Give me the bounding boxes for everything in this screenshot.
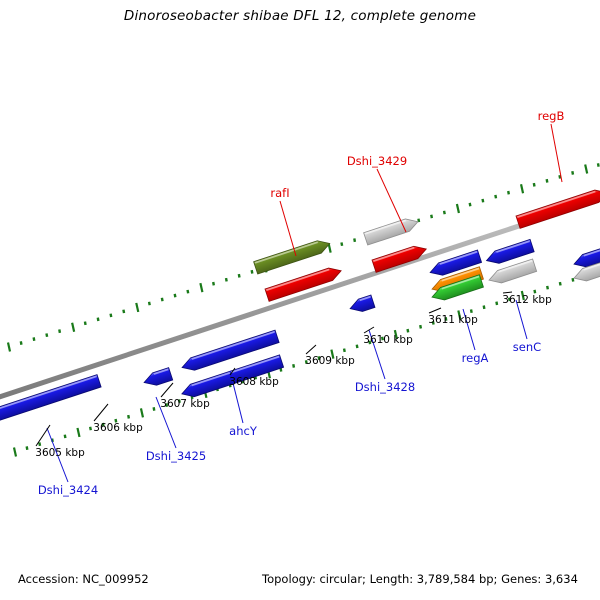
gene-label-senc[interactable]: senC bbox=[513, 340, 541, 354]
scale-tick-minor bbox=[344, 349, 345, 352]
scale-tick-major bbox=[585, 164, 587, 173]
tick-label-leader bbox=[36, 425, 50, 446]
scale-tick-minor bbox=[46, 333, 47, 336]
scale-tick-minor bbox=[431, 215, 432, 218]
gene-arrow-f-senC-gray[interactable] bbox=[487, 259, 537, 286]
scale-tick-minor bbox=[598, 163, 599, 166]
scale-tick-minor bbox=[128, 415, 129, 418]
genome-stats-text: Topology: circular; Length: 3,789,584 bp… bbox=[262, 572, 578, 586]
gene-feature[interactable] bbox=[516, 187, 600, 229]
scale-tick-major bbox=[72, 323, 74, 332]
tick-label: 3611 kbp bbox=[428, 314, 477, 326]
scale-tick-minor bbox=[111, 314, 112, 317]
gene-arrow-f-3429-gray[interactable] bbox=[364, 216, 420, 246]
tick-label: 3610 kbp bbox=[363, 334, 412, 346]
scale-tick-minor bbox=[213, 282, 214, 285]
gene-arrow-f-dshi3428[interactable] bbox=[348, 295, 375, 315]
gene-feature[interactable] bbox=[487, 259, 537, 286]
scale-tick-minor bbox=[341, 242, 342, 245]
scale-tick-minor bbox=[471, 309, 472, 312]
gene-feature[interactable] bbox=[348, 295, 375, 315]
scale-tick-minor bbox=[420, 325, 421, 328]
accession-text: Accession: NC_009952 bbox=[18, 572, 149, 586]
scale-tick-minor bbox=[27, 446, 28, 449]
scale-tick-minor bbox=[444, 211, 445, 214]
scale-tick-major bbox=[521, 184, 523, 193]
scale-tick-minor bbox=[484, 306, 485, 309]
tick-label-leader bbox=[429, 308, 441, 313]
scale-tick-minor bbox=[188, 290, 189, 293]
gene-label-dshi_3424[interactable]: Dshi_3424 bbox=[38, 483, 98, 497]
scale-tick-minor bbox=[560, 282, 561, 285]
scale-tick-minor bbox=[357, 345, 358, 348]
scale-tick-minor bbox=[573, 278, 574, 281]
scale-tick-major bbox=[141, 408, 143, 417]
scale-tick-minor bbox=[252, 270, 253, 273]
scale-tick-minor bbox=[162, 298, 163, 301]
gene-feature[interactable] bbox=[364, 216, 420, 246]
scale-tick-minor bbox=[408, 329, 409, 332]
scale-tick-minor bbox=[239, 274, 240, 277]
gene-arrow-f-small-1[interactable] bbox=[142, 368, 173, 389]
scale-tick-minor bbox=[149, 302, 150, 305]
tick-label: 3607 kbp bbox=[160, 398, 209, 410]
scale-tick-minor bbox=[21, 341, 22, 344]
scale-tick-minor bbox=[508, 191, 509, 194]
scale-tick-minor bbox=[98, 318, 99, 321]
scale-tick-minor bbox=[154, 407, 155, 410]
scale-tick-minor bbox=[470, 203, 471, 206]
scale-tick-minor bbox=[293, 364, 294, 367]
gene-label-leader bbox=[551, 124, 562, 182]
scale-tick-minor bbox=[175, 294, 176, 297]
tick-label-leader bbox=[503, 292, 512, 293]
scale-tick-minor bbox=[547, 179, 548, 182]
scale-tick-major bbox=[136, 303, 138, 312]
scale-tick-minor bbox=[90, 427, 91, 430]
scale-tick-minor bbox=[59, 329, 60, 332]
gene-label-rega[interactable]: regA bbox=[462, 351, 489, 365]
tick-label: 3612 kbp bbox=[502, 294, 551, 306]
tick-label-leader bbox=[94, 404, 108, 421]
scale-tick-minor bbox=[560, 175, 561, 178]
scale-tick-minor bbox=[572, 171, 573, 174]
gene-arrow-f-rafI-olive[interactable] bbox=[254, 237, 332, 274]
tick-label-leader bbox=[364, 327, 374, 333]
gene-feature[interactable] bbox=[142, 368, 173, 389]
scale-tick-minor bbox=[483, 199, 484, 202]
gene-label-dshi_3425[interactable]: Dshi_3425 bbox=[146, 449, 206, 463]
scale-tick-major bbox=[77, 428, 79, 437]
scale-tick-major bbox=[200, 283, 202, 292]
scale-tick-minor bbox=[65, 435, 66, 438]
scale-tick-minor bbox=[34, 337, 35, 340]
scale-tick-minor bbox=[39, 442, 40, 445]
gene-label-leader bbox=[377, 169, 406, 232]
gene-arrow-f-regB[interactable] bbox=[516, 187, 600, 229]
gene-features[interactable] bbox=[0, 187, 600, 431]
scale-tick-minor bbox=[534, 183, 535, 186]
scale-tick-major bbox=[457, 204, 459, 213]
scale-tick-marks bbox=[8, 163, 599, 456]
gene-label-rafi[interactable]: rafI bbox=[270, 186, 289, 200]
tick-label: 3605 kbp bbox=[35, 447, 84, 459]
tick-label: 3608 kbp bbox=[229, 376, 278, 388]
scale-tick-minor bbox=[535, 290, 536, 293]
scale-tick-major bbox=[14, 448, 16, 457]
scale-tick-minor bbox=[547, 286, 548, 289]
scale-tick-minor bbox=[495, 195, 496, 198]
scale-tick-minor bbox=[123, 310, 124, 313]
tick-label: 3606 kbp bbox=[93, 422, 142, 434]
scale-tick-minor bbox=[418, 219, 419, 222]
gene-feature[interactable] bbox=[0, 375, 101, 431]
gene-label-ahcy[interactable]: ahcY bbox=[229, 424, 257, 438]
gene-feature[interactable] bbox=[254, 237, 332, 274]
tick-label: 3609 kbp bbox=[305, 355, 354, 367]
scale-tick-minor bbox=[496, 302, 497, 305]
tick-label-leader bbox=[161, 383, 173, 397]
gene-label-regb[interactable]: regB bbox=[538, 109, 565, 123]
genome-map-viewer: Dinoroseobacter shibae DFL 12, complete … bbox=[0, 0, 600, 600]
scale-tick-minor bbox=[354, 238, 355, 241]
gene-label-dshi_3428[interactable]: Dshi_3428 bbox=[355, 380, 415, 394]
scale-tick-minor bbox=[226, 278, 227, 281]
scale-tick-minor bbox=[85, 322, 86, 325]
scale-tick-major bbox=[8, 343, 10, 352]
gene-label-dshi_3429[interactable]: Dshi_3429 bbox=[347, 154, 407, 168]
tick-label-leader bbox=[306, 345, 316, 354]
gene-label-leader bbox=[280, 201, 296, 256]
